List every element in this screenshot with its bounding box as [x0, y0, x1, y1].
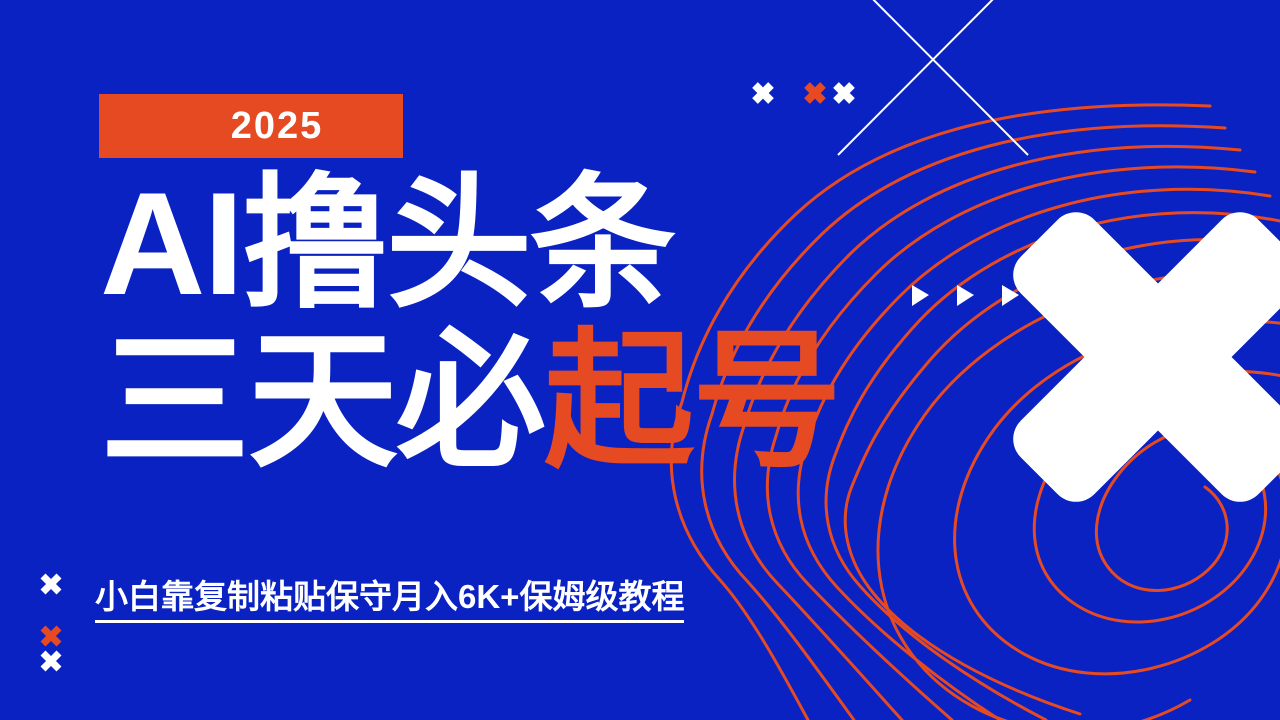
- subtitle-text: 小白靠复制粘贴保守月入6K+保姆级教程: [95, 578, 684, 623]
- small-x-marks-bottom: [43, 576, 59, 669]
- small-x-marks-top: [755, 85, 852, 101]
- x-mark-orange-2: [43, 628, 59, 644]
- headline-block: AI撸头条 三天必起号: [100, 170, 900, 478]
- play-triangles: [912, 285, 1019, 306]
- headline-line-2-white: 三天必: [100, 317, 544, 485]
- rounded-x-mark-icon: [920, 119, 1280, 594]
- x-mark-white-3: [43, 576, 59, 592]
- headline-line-2-accent: 起号: [544, 317, 840, 485]
- x-mark-white-2: [836, 85, 852, 101]
- triangle-icon-1: [912, 285, 929, 306]
- headline-line-1: AI撸头条: [100, 170, 900, 319]
- triangle-icon-3: [1002, 285, 1019, 306]
- year-badge-label: 2025: [179, 107, 324, 145]
- poster-canvas: 2025 AI撸头条 三天必起号 小白靠复制粘贴保守月入6K+保姆级教程: [0, 0, 1280, 720]
- x-mark-orange-1: [807, 85, 823, 101]
- triangle-icon-2: [957, 285, 974, 306]
- headline-line-2: 三天必起号: [100, 325, 900, 478]
- x-mark-white-4: [43, 653, 59, 669]
- year-badge: 2025: [99, 94, 403, 158]
- x-mark-white-1: [755, 85, 771, 101]
- thin-x-outline-icon: [838, 0, 1028, 155]
